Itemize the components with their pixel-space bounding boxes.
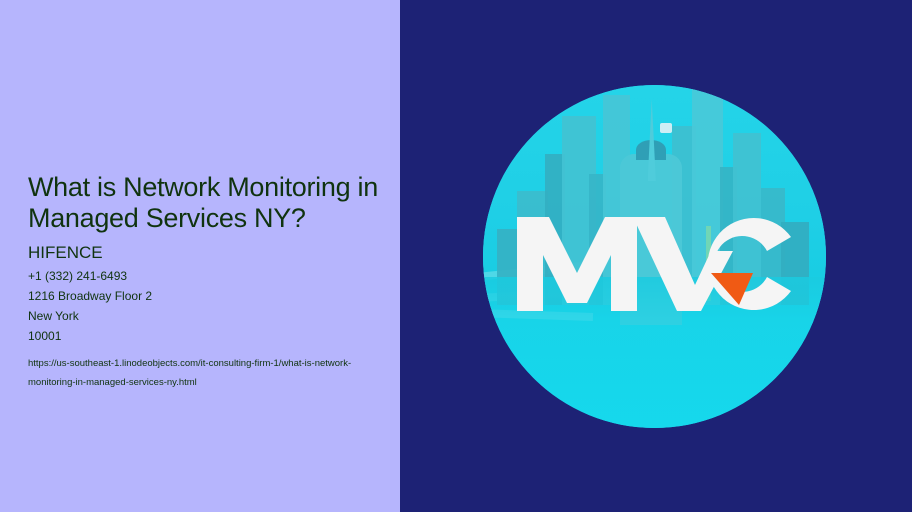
source-url: https://us-southeast-1.linodeobjects.com… [28,354,358,392]
logo-badge [483,85,826,428]
page-title: What is Network Monitoring in Managed Se… [28,172,380,234]
text-block: What is Network Monitoring in Managed Se… [28,172,380,392]
right-logo-panel [400,0,912,512]
address-city: New York [28,306,380,326]
left-text-panel: What is Network Monitoring in Managed Se… [0,0,400,512]
slide-canvas: What is Network Monitoring in Managed Se… [0,0,912,512]
address-line-1: 1216 Broadway Floor 2 [28,286,380,306]
mvc-wordmark-icon [483,212,826,315]
phone-number: +1 (332) 241-6493 [28,266,380,286]
address-zip: 10001 [28,326,380,346]
tower-spire-tip [660,123,672,133]
company-name: HIFENCE [28,243,380,263]
